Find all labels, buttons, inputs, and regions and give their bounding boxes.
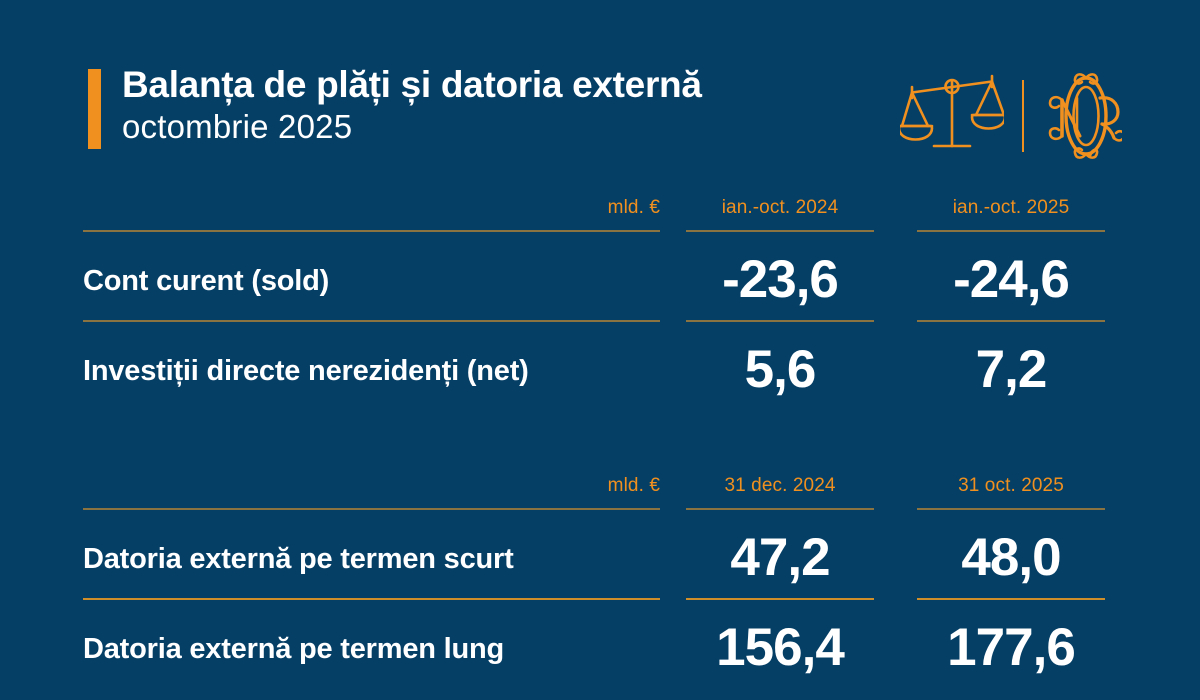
row-label-cell: Datoria externă pe termen scurt [83,510,660,600]
column-header-1: ian.-oct. 2024 [669,180,891,232]
bnr-monogram-icon [1046,70,1122,162]
table-row: Datoria externă pe termen scurt 47,2 48,… [83,510,1123,600]
unit-cell: mld. € [83,180,660,232]
row-value-cell: 177,6 [900,600,1122,690]
column-header-2: 31 oct. 2025 [900,458,1122,510]
row-value: 7,2 [900,342,1122,398]
unit-cell: mld. € [83,458,660,510]
column-header-label: ian.-oct. 2025 [900,197,1122,219]
infographic-page: { "header": { "title": "Balanța de plăți… [0,0,1200,700]
table-row: Cont curent (sold) -23,6 -24,6 [83,232,1123,322]
title-block: Balanța de plăți și datoria externă octo… [122,63,882,147]
row-value: -23,6 [669,252,891,308]
row-value-cell: 5,6 [669,322,891,412]
column-header-2: ian.-oct. 2025 [900,180,1122,232]
row-label: Datoria externă pe termen lung [83,633,504,666]
row-value: 47,2 [669,530,891,586]
row-value: 5,6 [669,342,891,398]
page-header: Balanța de plăți și datoria externă octo… [0,0,1200,180]
page-title: Balanța de plăți și datoria externă [122,63,882,107]
table-header-row: mld. € ian.-oct. 2024 ian.-oct. 2025 [83,180,1123,232]
column-header-label: 31 dec. 2024 [669,475,891,497]
row-value: 156,4 [669,620,891,676]
row-value-cell: 156,4 [669,600,891,690]
column-header-1: 31 dec. 2024 [669,458,891,510]
column-header-label: 31 oct. 2025 [900,475,1122,497]
row-label-cell: Datoria externă pe termen lung [83,600,660,690]
data-table: mld. € ian.-oct. 2024 ian.-oct. 2025 Con… [0,180,1200,690]
balance-scale-icon [900,70,1004,162]
row-label-cell: Cont curent (sold) [83,232,660,322]
logo-divider [1022,80,1024,152]
row-value-cell: -23,6 [669,232,891,322]
section-spacer [0,412,1200,458]
column-header-label: ian.-oct. 2024 [669,197,891,219]
row-label: Investiții directe nerezidenți (net) [83,355,529,388]
row-value-cell: 47,2 [669,510,891,600]
accent-bar [88,69,101,149]
logo-group [900,66,1130,166]
row-label: Datoria externă pe termen scurt [83,543,514,576]
page-subtitle: octombrie 2025 [122,107,882,147]
row-value: -24,6 [900,252,1122,308]
table-row: Investiții directe nerezidenți (net) 5,6… [83,322,1123,412]
row-value: 48,0 [900,530,1122,586]
row-label: Cont curent (sold) [83,265,329,298]
row-label-cell: Investiții directe nerezidenți (net) [83,322,660,412]
row-value: 177,6 [900,620,1122,676]
table-row: Datoria externă pe termen lung 156,4 177… [83,600,1123,690]
row-value-cell: 48,0 [900,510,1122,600]
row-value-cell: 7,2 [900,322,1122,412]
row-value-cell: -24,6 [900,232,1122,322]
table-header-row: mld. € 31 dec. 2024 31 oct. 2025 [83,458,1123,510]
unit-label: mld. € [83,197,660,219]
unit-label: mld. € [83,475,660,497]
